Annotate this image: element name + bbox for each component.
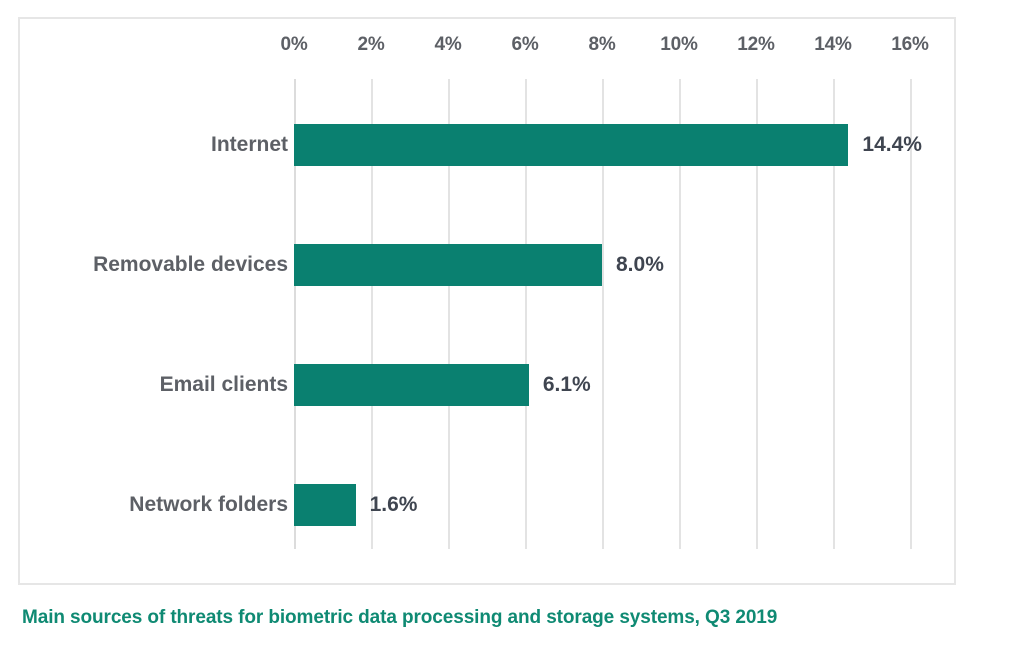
bar[interactable]	[294, 364, 529, 406]
category-label: Removable devices	[93, 244, 288, 286]
bar-row: Network folders1.6%	[20, 484, 954, 526]
bar-row: Internet14.4%	[20, 124, 954, 166]
x-axis-tick-6pct: 6%	[511, 34, 538, 56]
bar-value-label: 1.6%	[370, 484, 418, 526]
bar[interactable]	[294, 244, 602, 286]
chart-panel: 0%2%4%6%8%10%12%14%16% Internet14.4%Remo…	[18, 17, 956, 585]
bar-value-label: 8.0%	[616, 244, 664, 286]
bar-value-label: 14.4%	[862, 124, 922, 166]
bar[interactable]	[294, 484, 356, 526]
chart-page: 0%2%4%6%8%10%12%14%16% Internet14.4%Remo…	[0, 0, 1024, 649]
bar-row: Email clients6.1%	[20, 364, 954, 406]
x-axis-tick-labels: 0%2%4%6%8%10%12%14%16%	[20, 34, 954, 58]
x-axis-tick-14pct: 14%	[814, 34, 851, 56]
category-label: Network folders	[129, 484, 288, 526]
bar-value-label: 6.1%	[543, 364, 591, 406]
bar-row: Removable devices8.0%	[20, 244, 954, 286]
x-axis-tick-2pct: 2%	[357, 34, 384, 56]
x-axis-tick-10pct: 10%	[660, 34, 697, 56]
plot-area: 0%2%4%6%8%10%12%14%16% Internet14.4%Remo…	[20, 19, 954, 583]
x-axis-tick-8pct: 8%	[588, 34, 615, 56]
chart-caption: Main sources of threats for biometric da…	[22, 607, 777, 629]
x-axis-tick-0pct: 0%	[280, 34, 307, 56]
category-label: Internet	[211, 124, 288, 166]
category-label: Email clients	[160, 364, 288, 406]
x-axis-tick-16pct: 16%	[891, 34, 928, 56]
bar-series: Internet14.4%Removable devices8.0%Email …	[20, 79, 954, 549]
bar[interactable]	[294, 124, 848, 166]
x-axis-tick-4pct: 4%	[434, 34, 461, 56]
x-axis-tick-12pct: 12%	[737, 34, 774, 56]
